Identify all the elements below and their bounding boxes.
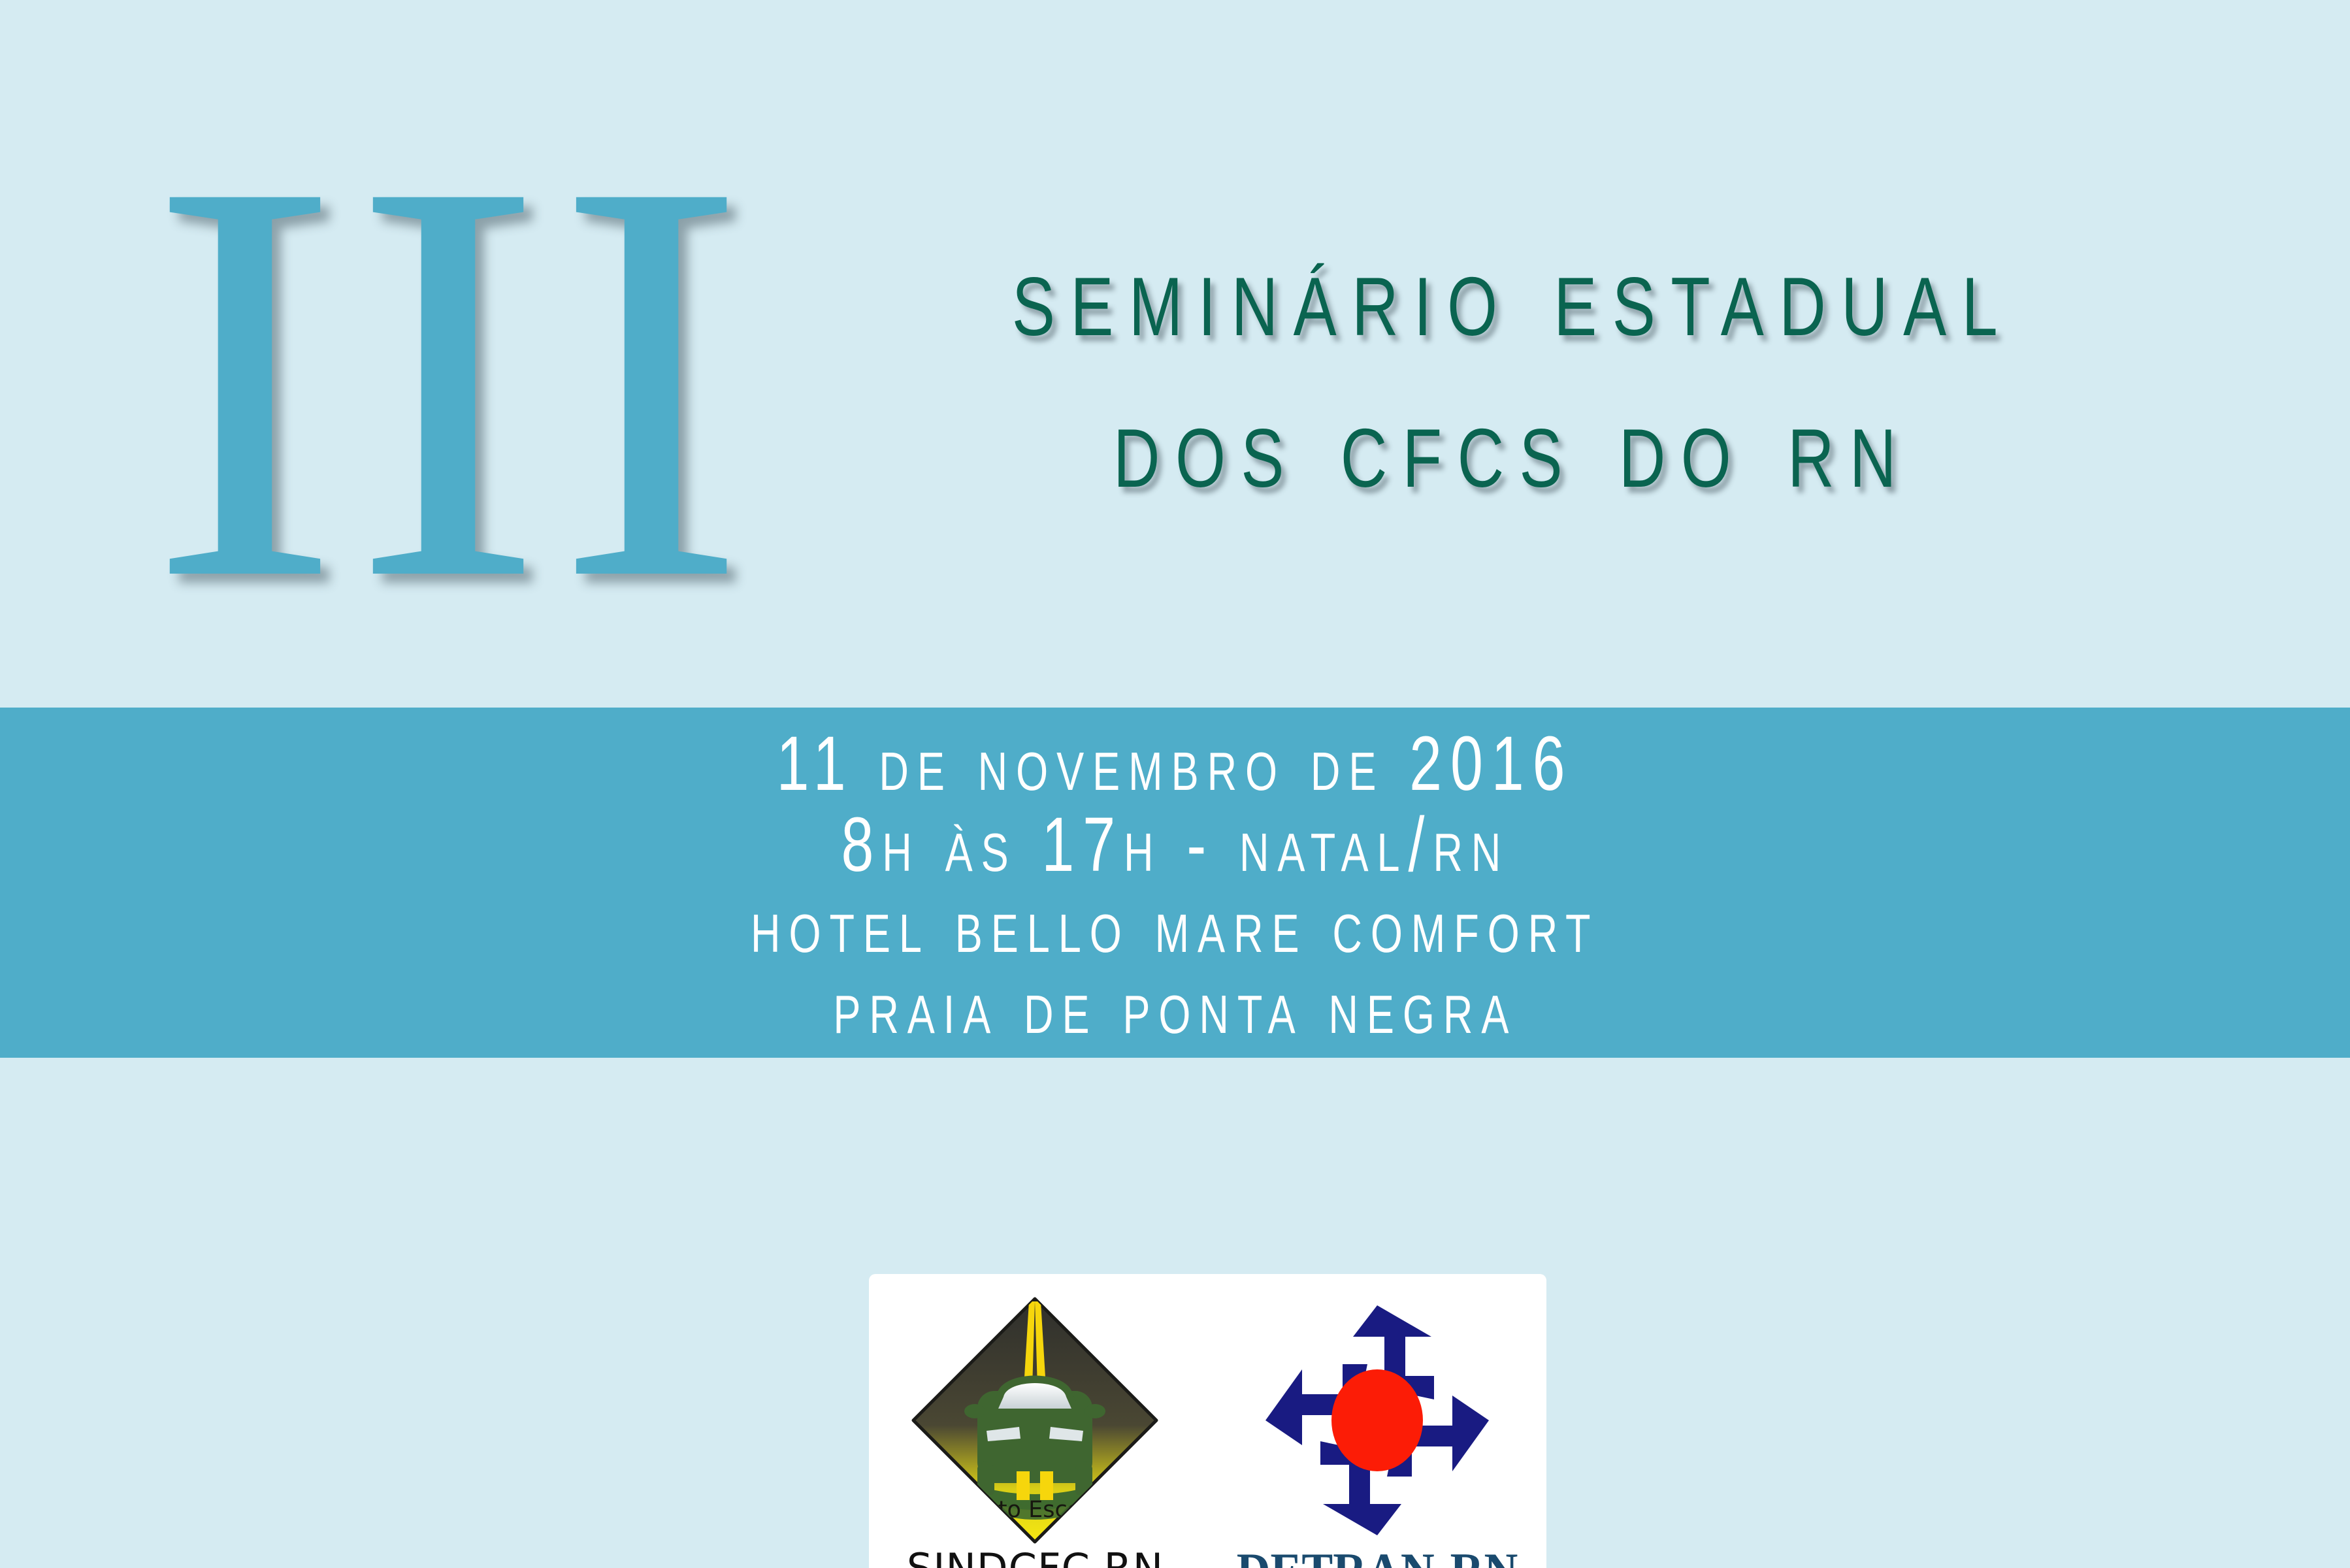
event-details-band: 11 de Novembro de 2016 8h às 17h - Natal… — [0, 708, 2350, 1058]
detran-pinwheel-arrows-icon — [1256, 1296, 1498, 1544]
event-poster: III Seminário Estadual dos CFCs do RN 11… — [0, 0, 2350, 1568]
event-date: 11 de Novembro de 2016 — [777, 723, 1574, 804]
poster-title: Seminário Estadual dos CFCs do RN — [745, 230, 2280, 511]
detran-rn-logo: DETRAN-RN — [1224, 1290, 1530, 1568]
sponsor-logos-card: Auto Escola SINDCFC RN Sindicato dos Cen… — [869, 1274, 1546, 1568]
roman-numeral-three: III — [149, 152, 691, 609]
title-line-primary: Seminário Estadual — [914, 230, 2112, 358]
event-neighborhood: Praia de Ponta Negra — [833, 966, 1517, 1047]
sindcfc-rn-logo: Auto Escola SINDCFC RN Sindicato dos Cen… — [885, 1290, 1186, 1568]
sindcfc-emblem-icon: Auto Escola — [904, 1290, 1166, 1551]
title-line-secondary: dos CFCs do RN — [914, 380, 2112, 511]
event-venue: Hotel Bello Mare Comfort — [751, 885, 1599, 966]
auto-escola-badge-text: Auto Escola — [968, 1497, 1102, 1523]
event-time-and-city: 8h às 17h - Natal/RN — [841, 804, 1509, 885]
detran-name: DETRAN-RN — [1237, 1544, 1518, 1568]
